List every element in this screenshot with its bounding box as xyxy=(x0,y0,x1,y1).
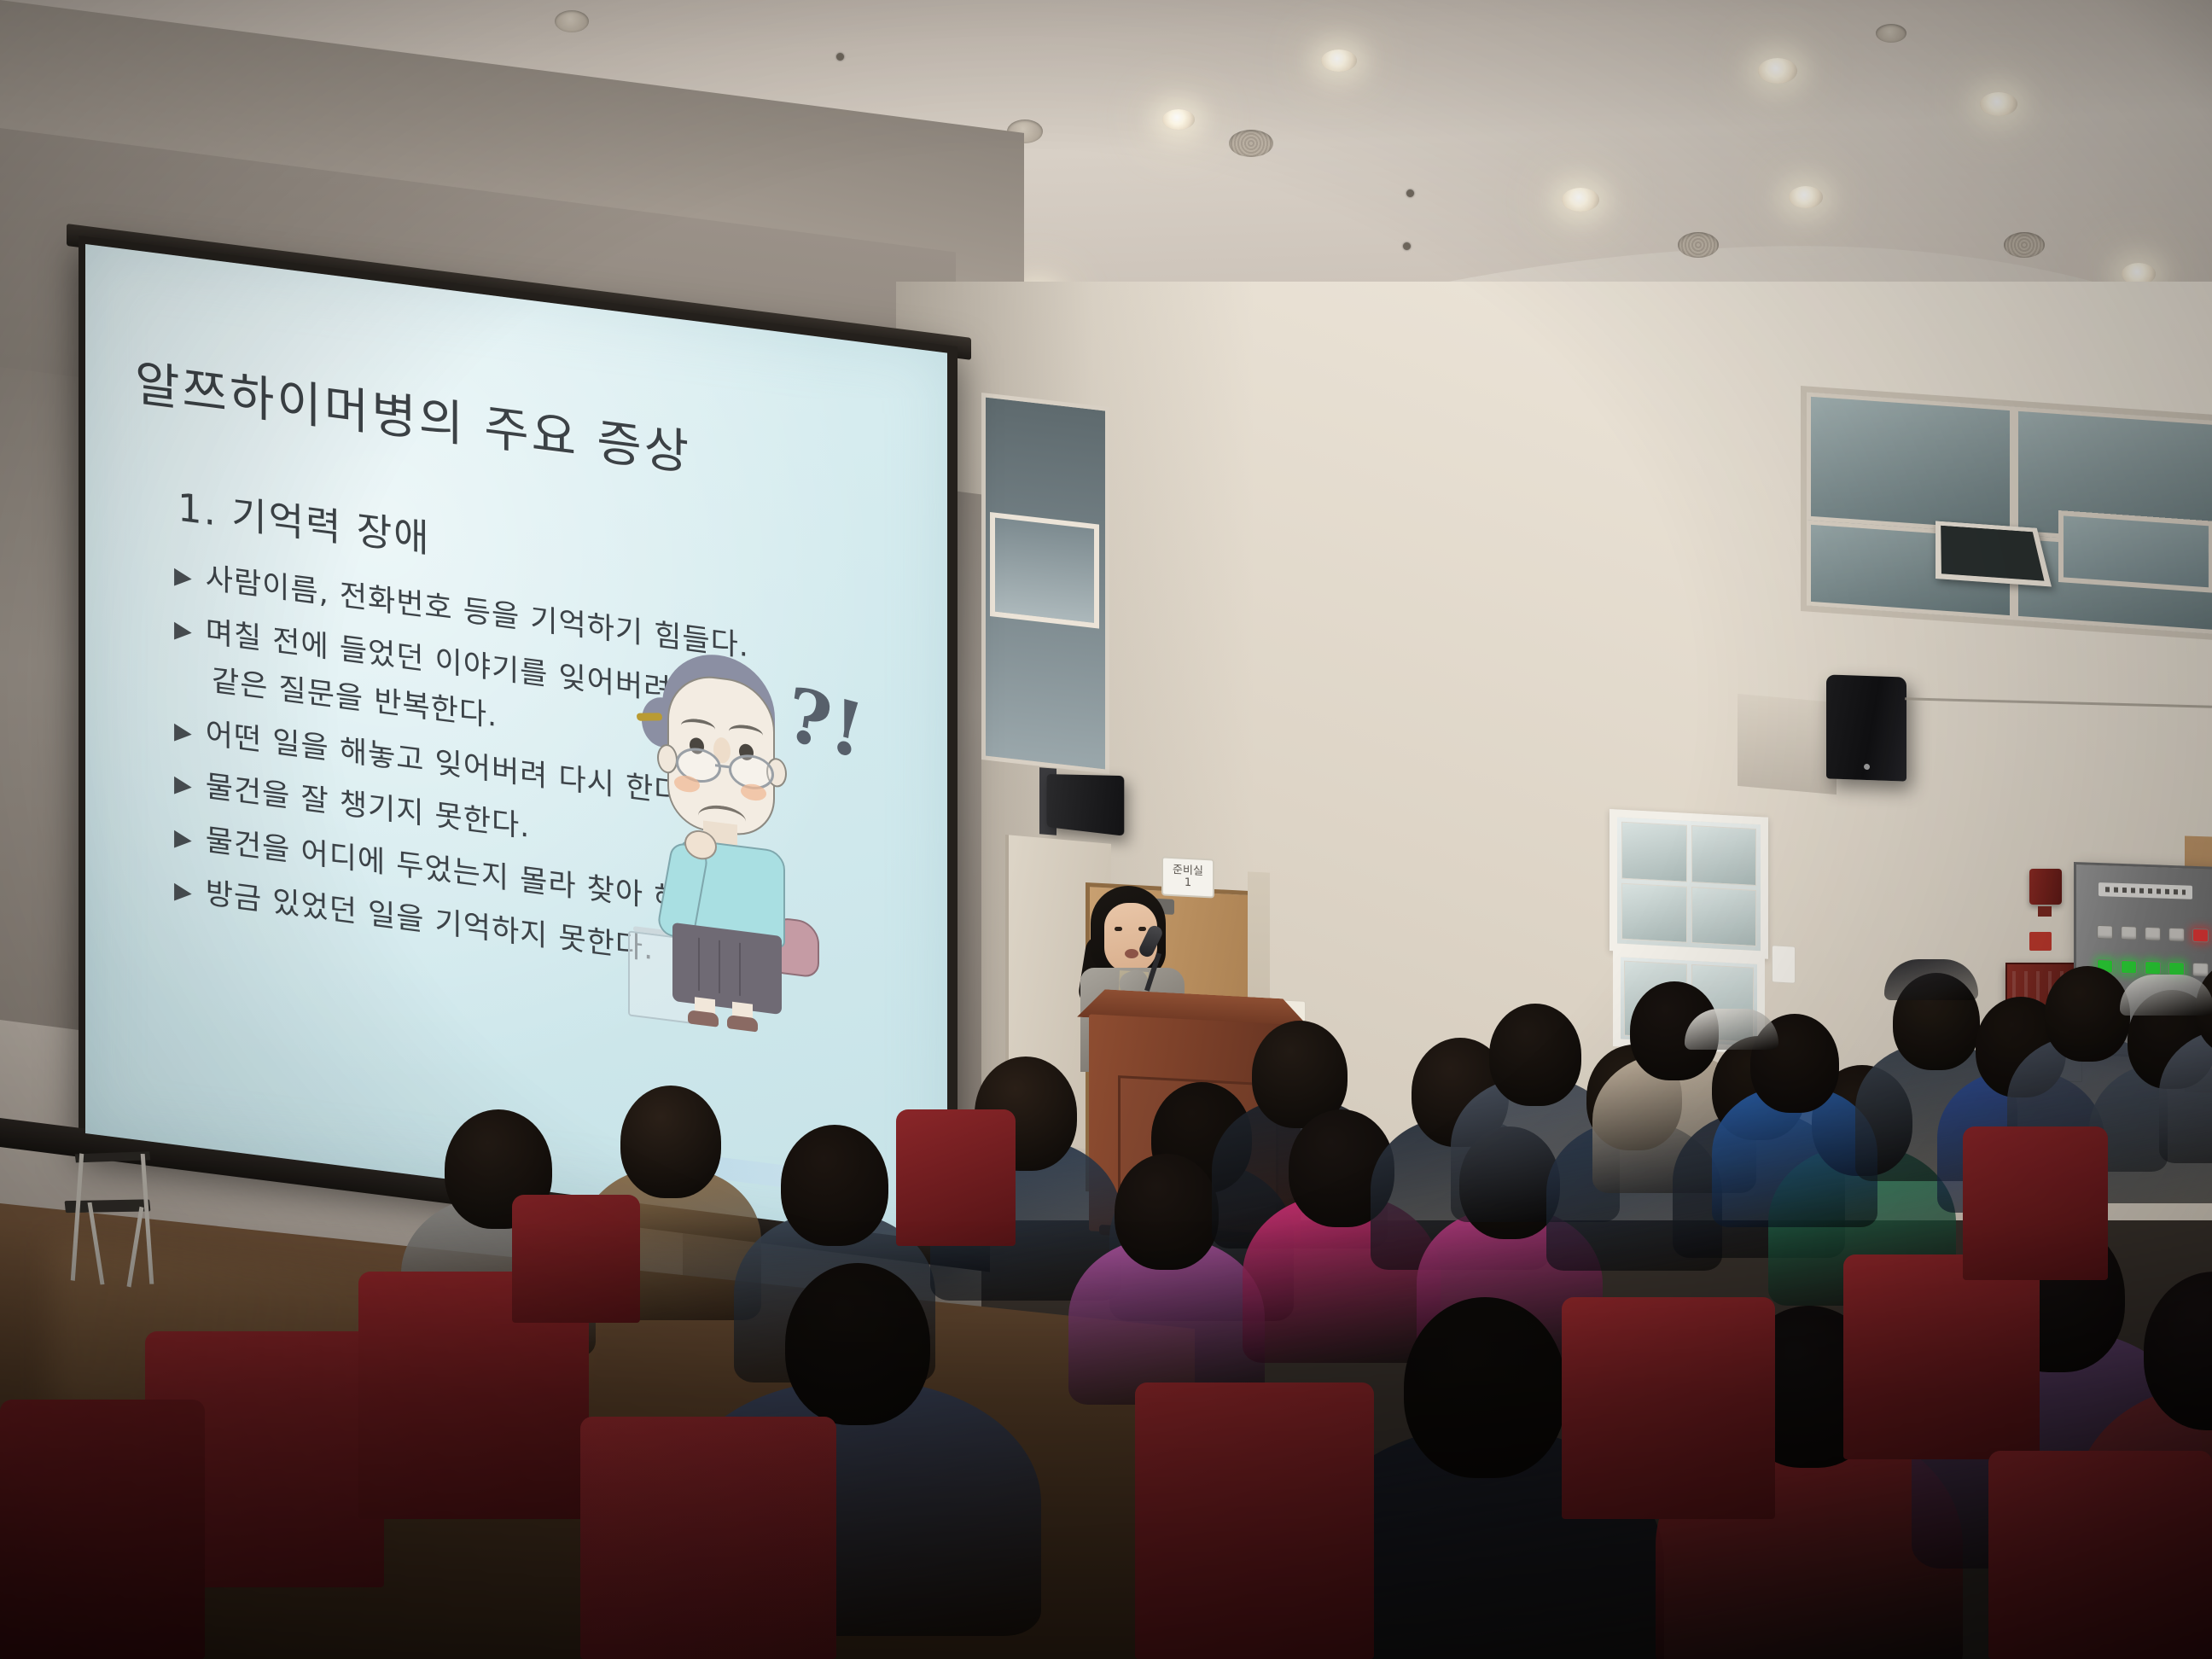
head xyxy=(785,1263,930,1425)
glass-pane-far-right xyxy=(2058,510,2212,593)
skirt-pleat xyxy=(719,940,720,993)
slide-section-heading: 1. 기억력 장애 xyxy=(178,476,431,563)
chair-leg xyxy=(88,1202,105,1284)
skirt-pleat xyxy=(739,943,741,996)
skirt-pleat xyxy=(698,938,700,991)
chair-leg xyxy=(71,1153,84,1281)
chair-leg xyxy=(141,1154,154,1284)
slide-title: 알쯔하이머병의 주요 증상 xyxy=(135,344,691,484)
indicator-lamp xyxy=(2145,927,2161,941)
mouth xyxy=(1125,949,1138,958)
bullet-triangle-icon: ▶ xyxy=(174,818,192,856)
indicator-lamp-red xyxy=(2192,928,2209,943)
shoe-right xyxy=(727,1015,758,1033)
auditorium-seat[interactable] xyxy=(1135,1382,1374,1659)
auditorium-seat[interactable] xyxy=(1988,1451,2212,1659)
indicator-lamp xyxy=(2121,926,2137,940)
chair-leg xyxy=(127,1207,144,1288)
loudspeaker-center xyxy=(1047,774,1125,836)
clerestory-window-lower xyxy=(990,512,1099,629)
audience-member xyxy=(1712,1014,1877,1254)
window-pane xyxy=(1691,887,1757,947)
indicator-lamp xyxy=(2097,925,2113,940)
question-exclamation-icon: ?! xyxy=(783,680,868,766)
ceiling-vent xyxy=(1229,130,1273,157)
ceiling-light-off xyxy=(1876,24,1906,43)
hat-white-cap xyxy=(1685,1009,1778,1050)
auditorium-seat[interactable] xyxy=(1843,1254,2040,1459)
fire-equipment-sign xyxy=(2029,932,2052,951)
ceiling-light xyxy=(1789,186,1823,208)
ceiling-light-off xyxy=(555,10,589,32)
auditorium-seat[interactable] xyxy=(580,1417,836,1659)
ceiling-light xyxy=(1321,49,1357,72)
hat-white-visor xyxy=(2120,975,2212,1016)
interior-glass-partition xyxy=(1801,386,2212,641)
ceiling-light xyxy=(1562,188,1599,212)
speaker-mount-bracket xyxy=(1738,694,1837,795)
head xyxy=(781,1125,888,1246)
auditorium-seat[interactable] xyxy=(1963,1126,2108,1280)
bullet-triangle-icon: ▶ xyxy=(174,609,192,648)
loudspeaker-right xyxy=(1826,674,1906,781)
skirt xyxy=(672,923,782,1015)
window-pane xyxy=(1621,822,1687,882)
auditorium-seat[interactable] xyxy=(512,1195,640,1323)
folding-chair[interactable] xyxy=(44,1145,166,1299)
panel-indicator-row-top xyxy=(2097,925,2209,943)
light-switch[interactable] xyxy=(1772,945,1796,983)
bullet-triangle-icon: ▶ xyxy=(174,711,192,749)
bullet-triangle-icon: ▶ xyxy=(174,556,192,594)
ceiling-vent xyxy=(1678,232,1719,258)
sprinkler-head xyxy=(1406,189,1414,197)
glass-pane xyxy=(1807,392,2014,534)
bullet-triangle-icon: ▶ xyxy=(174,870,192,909)
hairpin xyxy=(637,713,663,720)
torso xyxy=(2159,1028,2212,1163)
panel-nameplate xyxy=(2098,882,2192,899)
tilted-open-window[interactable] xyxy=(1935,521,2052,586)
fire-alarm-bell xyxy=(2029,869,2062,905)
hat-dark-cap xyxy=(1884,959,1978,1000)
projected-slide: 알쯔하이머병의 주요 증상 1. 기억력 장애 ▶ 사람이름, 전화번호 등을 … xyxy=(85,244,947,1243)
ceiling-light xyxy=(1980,92,2017,116)
sprinkler-head xyxy=(1403,242,1411,250)
photo-scene: 준비실 1 xyxy=(0,0,2212,1659)
window-pane xyxy=(1691,825,1757,886)
auditorium-seat[interactable] xyxy=(896,1109,1016,1246)
interior-window-upper xyxy=(1610,809,1768,959)
ceiling-light xyxy=(1758,58,1797,84)
auditorium-seat[interactable] xyxy=(1562,1297,1775,1519)
eye-left xyxy=(1115,927,1122,931)
sprinkler-head xyxy=(836,53,844,61)
ceiling-vent xyxy=(2004,232,2045,258)
head xyxy=(620,1086,721,1198)
ceiling-light xyxy=(1162,109,1195,130)
eye-right xyxy=(1138,927,1146,931)
window-pane xyxy=(1621,882,1687,943)
head xyxy=(1115,1154,1219,1270)
bullet-triangle-icon: ▶ xyxy=(174,764,192,802)
chair-backrest xyxy=(75,1151,151,1162)
auditorium-seat[interactable] xyxy=(0,1400,205,1659)
head xyxy=(1404,1297,1566,1478)
elderly-woman-cartoon-icon: ?! xyxy=(632,644,819,1010)
indicator-lamp xyxy=(2168,928,2185,942)
